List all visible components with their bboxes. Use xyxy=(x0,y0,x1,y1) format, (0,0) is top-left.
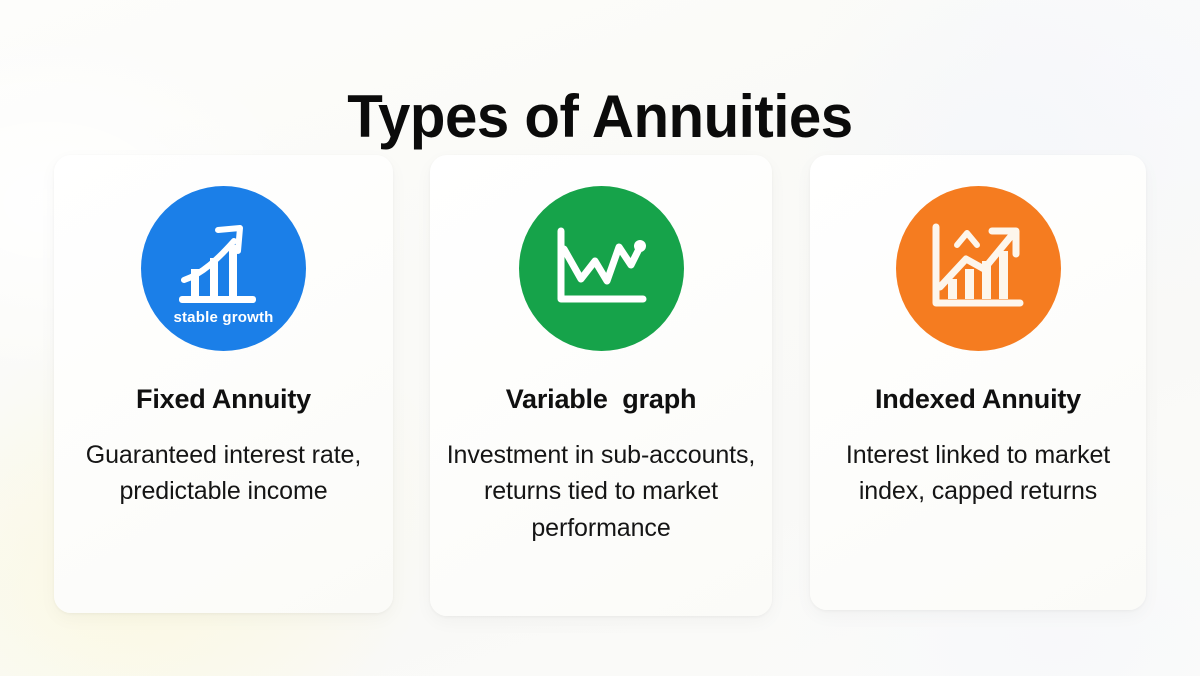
card-heading-variable-annuity: Variable graph xyxy=(506,384,697,415)
card-variable-annuity[interactable]: Variable graph Investment in sub-account… xyxy=(430,155,772,616)
card-heading-indexed-annuity: Indexed Annuity xyxy=(875,384,1081,415)
card-body-variable-annuity: Investment in sub-accounts, returns tied… xyxy=(430,437,772,546)
annuity-card-group: stable growth Fixed Annuity Guaranteed i… xyxy=(54,155,1146,617)
card-fixed-annuity[interactable]: stable growth Fixed Annuity Guaranteed i… xyxy=(54,155,393,613)
line-chart-zigzag-icon xyxy=(551,225,651,313)
icon-circle-fixed-annuity: stable growth xyxy=(141,186,306,351)
card-heading-fixed-annuity: Fixed Annuity xyxy=(136,384,311,415)
slide-canvas: Types of Annuities xyxy=(0,0,1200,676)
page-title: Types of Annuities xyxy=(18,87,1182,147)
icon-circle-variable-annuity xyxy=(519,186,684,351)
growth-bar-chart-arrow-icon xyxy=(170,221,278,317)
icon-circle-indexed-annuity xyxy=(896,186,1061,351)
card-body-indexed-annuity: Interest linked to market index, capped … xyxy=(810,437,1146,510)
bar-chart-rising-arrow-icon xyxy=(926,221,1030,317)
icon-caption-stable-growth: stable growth xyxy=(141,309,306,326)
card-indexed-annuity[interactable]: Indexed Annuity Interest linked to marke… xyxy=(810,155,1146,610)
card-body-fixed-annuity: Guaranteed interest rate, predictable in… xyxy=(54,437,393,510)
